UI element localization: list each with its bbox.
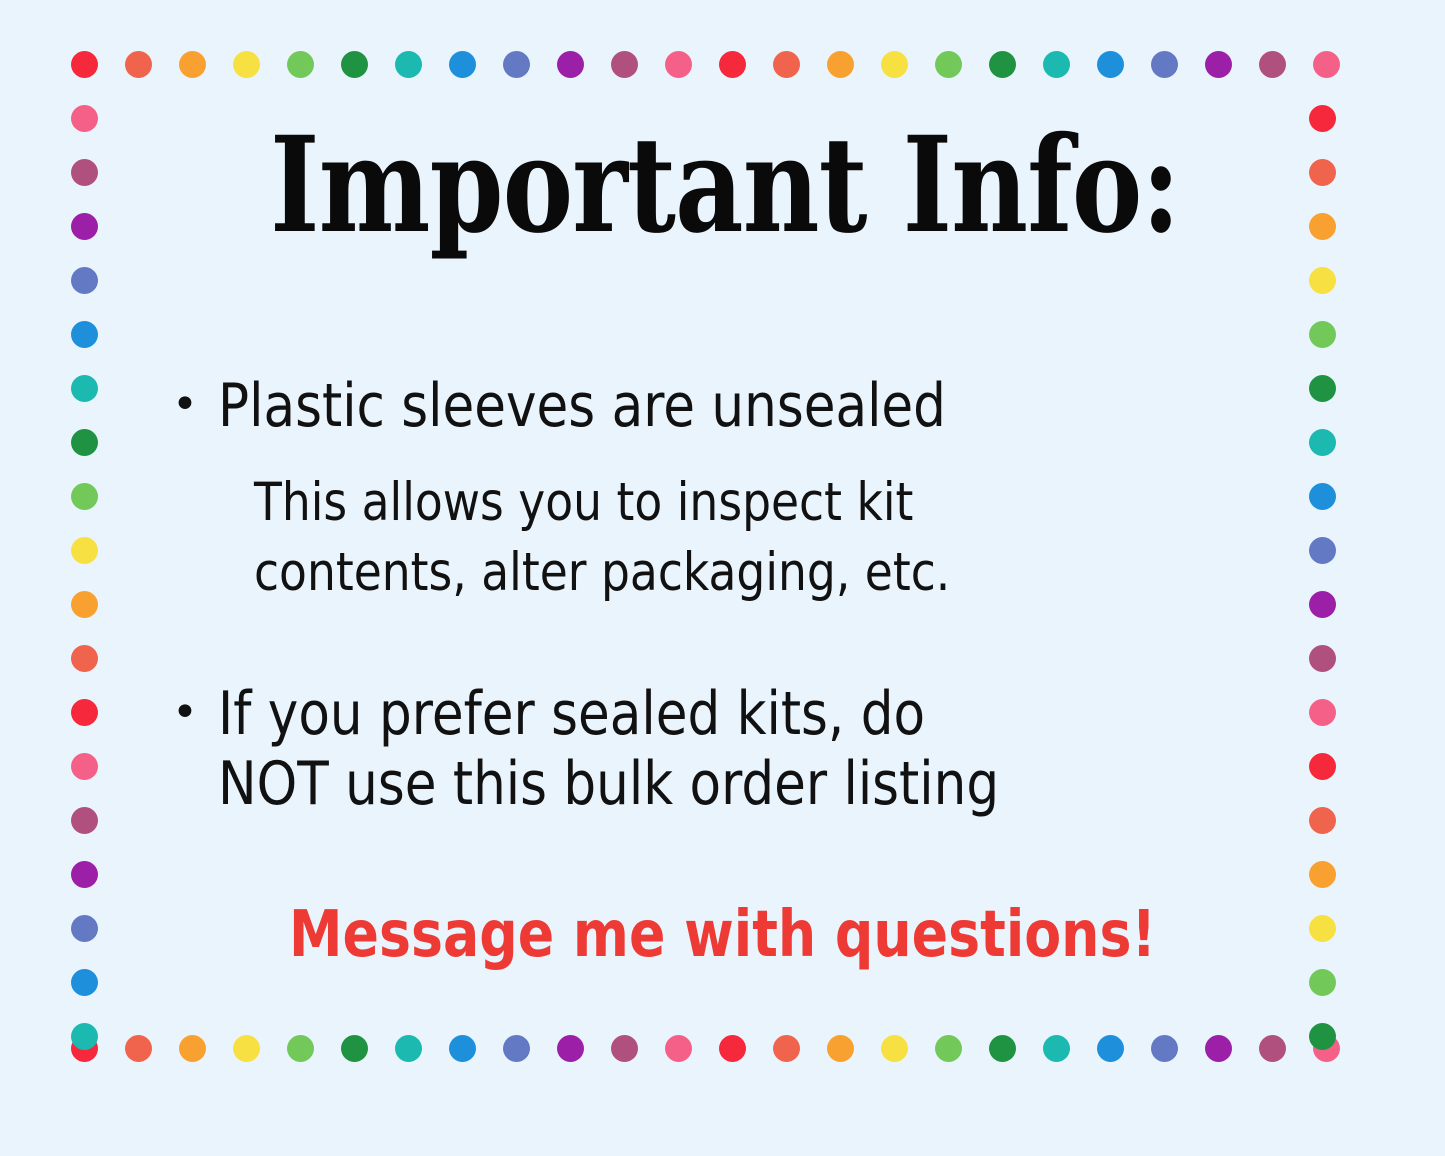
border-dot-top-21-purple	[1205, 51, 1232, 78]
border-dot-left-1-pink	[71, 105, 98, 132]
border-dot-top-1-coral	[125, 51, 152, 78]
border-dot-top-13-coral	[773, 51, 800, 78]
border-dot-bottom-7-blue	[449, 1035, 476, 1062]
border-dot-right-15-orange	[1309, 861, 1336, 888]
border-dot-right-12-pink	[1309, 699, 1336, 726]
border-dot-bottom-10-mauve	[611, 1035, 638, 1062]
bullet-2-text-line-2: NOT use this bulk order listing	[218, 750, 1142, 820]
border-dot-left-6-teal	[71, 375, 98, 402]
border-dot-left-2-mauve	[71, 159, 98, 186]
border-dot-bottom-2-orange	[179, 1035, 206, 1062]
border-dot-bottom-4-light-green	[287, 1035, 314, 1062]
border-dot-bottom-22-mauve	[1259, 1035, 1286, 1062]
border-dot-bottom-14-orange	[827, 1035, 854, 1062]
bullet-1-subtext-line-2: contents, alter packaging, etc.	[254, 538, 1311, 608]
border-dot-bottom-23-pink	[1313, 1035, 1340, 1062]
border-dot-left-3-purple	[71, 213, 98, 240]
border-dot-top-11-pink	[665, 51, 692, 78]
border-dot-bottom-3-yellow	[233, 1035, 260, 1062]
border-dot-left-9-yellow	[71, 537, 98, 564]
border-dot-top-3-yellow	[233, 51, 260, 78]
bullet-point-icon: •	[172, 680, 218, 746]
border-dot-left-17-blue	[71, 969, 98, 996]
border-dot-top-4-light-green	[287, 51, 314, 78]
border-dot-bottom-0-red	[71, 1035, 98, 1062]
border-dot-right-8-blue	[1309, 483, 1336, 510]
border-dot-bottom-8-periwinkle	[503, 1035, 530, 1062]
border-dot-bottom-5-dark-green	[341, 1035, 368, 1062]
bullet-1-subtext: This allows you to inspect kit contents,…	[172, 468, 1232, 608]
border-dot-right-10-purple	[1309, 591, 1336, 618]
bullet-2-text-line-1: If you prefer sealed kits, do	[218, 680, 1142, 750]
border-dot-bottom-11-pink	[665, 1035, 692, 1062]
border-dot-top-5-dark-green	[341, 51, 368, 78]
border-dot-left-14-mauve	[71, 807, 98, 834]
border-dot-bottom-12-red	[719, 1035, 746, 1062]
border-dot-top-15-yellow	[881, 51, 908, 78]
bullet-item-2: • If you prefer sealed kits, do NOT use …	[172, 680, 1292, 819]
border-dot-bottom-1-coral	[125, 1035, 152, 1062]
page-title: Important Info:	[257, 120, 1189, 252]
border-dot-bottom-19-blue	[1097, 1035, 1124, 1062]
border-dot-top-12-red	[719, 51, 746, 78]
call-to-action-text: Message me with questions!	[233, 900, 1212, 970]
border-dot-left-4-periwinkle	[71, 267, 98, 294]
border-dot-bottom-21-purple	[1205, 1035, 1232, 1062]
important-info-poster: Important Info: • Plastic sleeves are un…	[0, 0, 1445, 1156]
border-dot-left-16-periwinkle	[71, 915, 98, 942]
border-dot-right-3-orange	[1309, 213, 1336, 240]
border-dot-right-17-light-green	[1309, 969, 1336, 996]
border-dot-top-6-teal	[395, 51, 422, 78]
border-dot-left-5-blue	[71, 321, 98, 348]
bullet-item-1: • Plastic sleeves are unsealed	[172, 372, 1292, 442]
bullet-2-line-2-row: NOT use this bulk order listing	[172, 750, 1292, 820]
border-dot-left-18-teal	[71, 1023, 98, 1050]
border-dot-right-1-red	[1309, 105, 1336, 132]
bullet-1-subtext-line-1: This allows you to inspect kit	[254, 468, 1311, 538]
border-dot-left-15-purple	[71, 861, 98, 888]
bullet-1-text: Plastic sleeves are unsealed	[218, 372, 1142, 442]
border-dot-top-9-purple	[557, 51, 584, 78]
border-dot-bottom-17-dark-green	[989, 1035, 1016, 1062]
border-dot-left-13-pink	[71, 753, 98, 780]
bullet-point-icon: •	[172, 372, 218, 438]
border-dot-right-13-red	[1309, 753, 1336, 780]
bullet-2-line-1: • If you prefer sealed kits, do	[172, 680, 1292, 750]
border-dot-right-4-yellow	[1309, 267, 1336, 294]
border-dot-top-20-periwinkle	[1151, 51, 1178, 78]
border-dot-right-11-mauve	[1309, 645, 1336, 672]
border-dot-right-7-teal	[1309, 429, 1336, 456]
border-dot-right-16-yellow	[1309, 915, 1336, 942]
border-dot-top-23-pink	[1313, 51, 1340, 78]
border-dot-top-2-orange	[179, 51, 206, 78]
border-dot-right-2-coral	[1309, 159, 1336, 186]
border-dot-right-18-dark-green	[1309, 1023, 1336, 1050]
border-dot-top-17-dark-green	[989, 51, 1016, 78]
border-dot-right-6-dark-green	[1309, 375, 1336, 402]
border-dot-top-19-blue	[1097, 51, 1124, 78]
border-dot-right-9-periwinkle	[1309, 537, 1336, 564]
border-dot-left-10-orange	[71, 591, 98, 618]
border-dot-top-10-mauve	[611, 51, 638, 78]
border-dot-top-22-mauve	[1259, 51, 1286, 78]
border-dot-bottom-18-teal	[1043, 1035, 1070, 1062]
border-dot-top-0-red	[71, 51, 98, 78]
border-dot-bottom-6-teal	[395, 1035, 422, 1062]
border-dot-top-14-orange	[827, 51, 854, 78]
border-dot-bottom-15-yellow	[881, 1035, 908, 1062]
poster-content: Important Info: • Plastic sleeves are un…	[140, 120, 1305, 1036]
border-dot-bottom-20-periwinkle	[1151, 1035, 1178, 1062]
border-dot-top-8-periwinkle	[503, 51, 530, 78]
border-dot-bottom-13-coral	[773, 1035, 800, 1062]
border-dot-left-11-coral	[71, 645, 98, 672]
border-dot-top-16-light-green	[935, 51, 962, 78]
border-dot-left-8-light-green	[71, 483, 98, 510]
border-dot-right-14-coral	[1309, 807, 1336, 834]
border-dot-top-7-blue	[449, 51, 476, 78]
border-dot-bottom-16-light-green	[935, 1035, 962, 1062]
border-dot-left-12-red	[71, 699, 98, 726]
border-dot-right-5-light-green	[1309, 321, 1336, 348]
border-dot-bottom-9-purple	[557, 1035, 584, 1062]
cta-container: Message me with questions!	[140, 900, 1305, 970]
bullet-1-line: • Plastic sleeves are unsealed	[172, 372, 1292, 442]
border-dot-left-7-dark-green	[71, 429, 98, 456]
border-dot-top-18-teal	[1043, 51, 1070, 78]
